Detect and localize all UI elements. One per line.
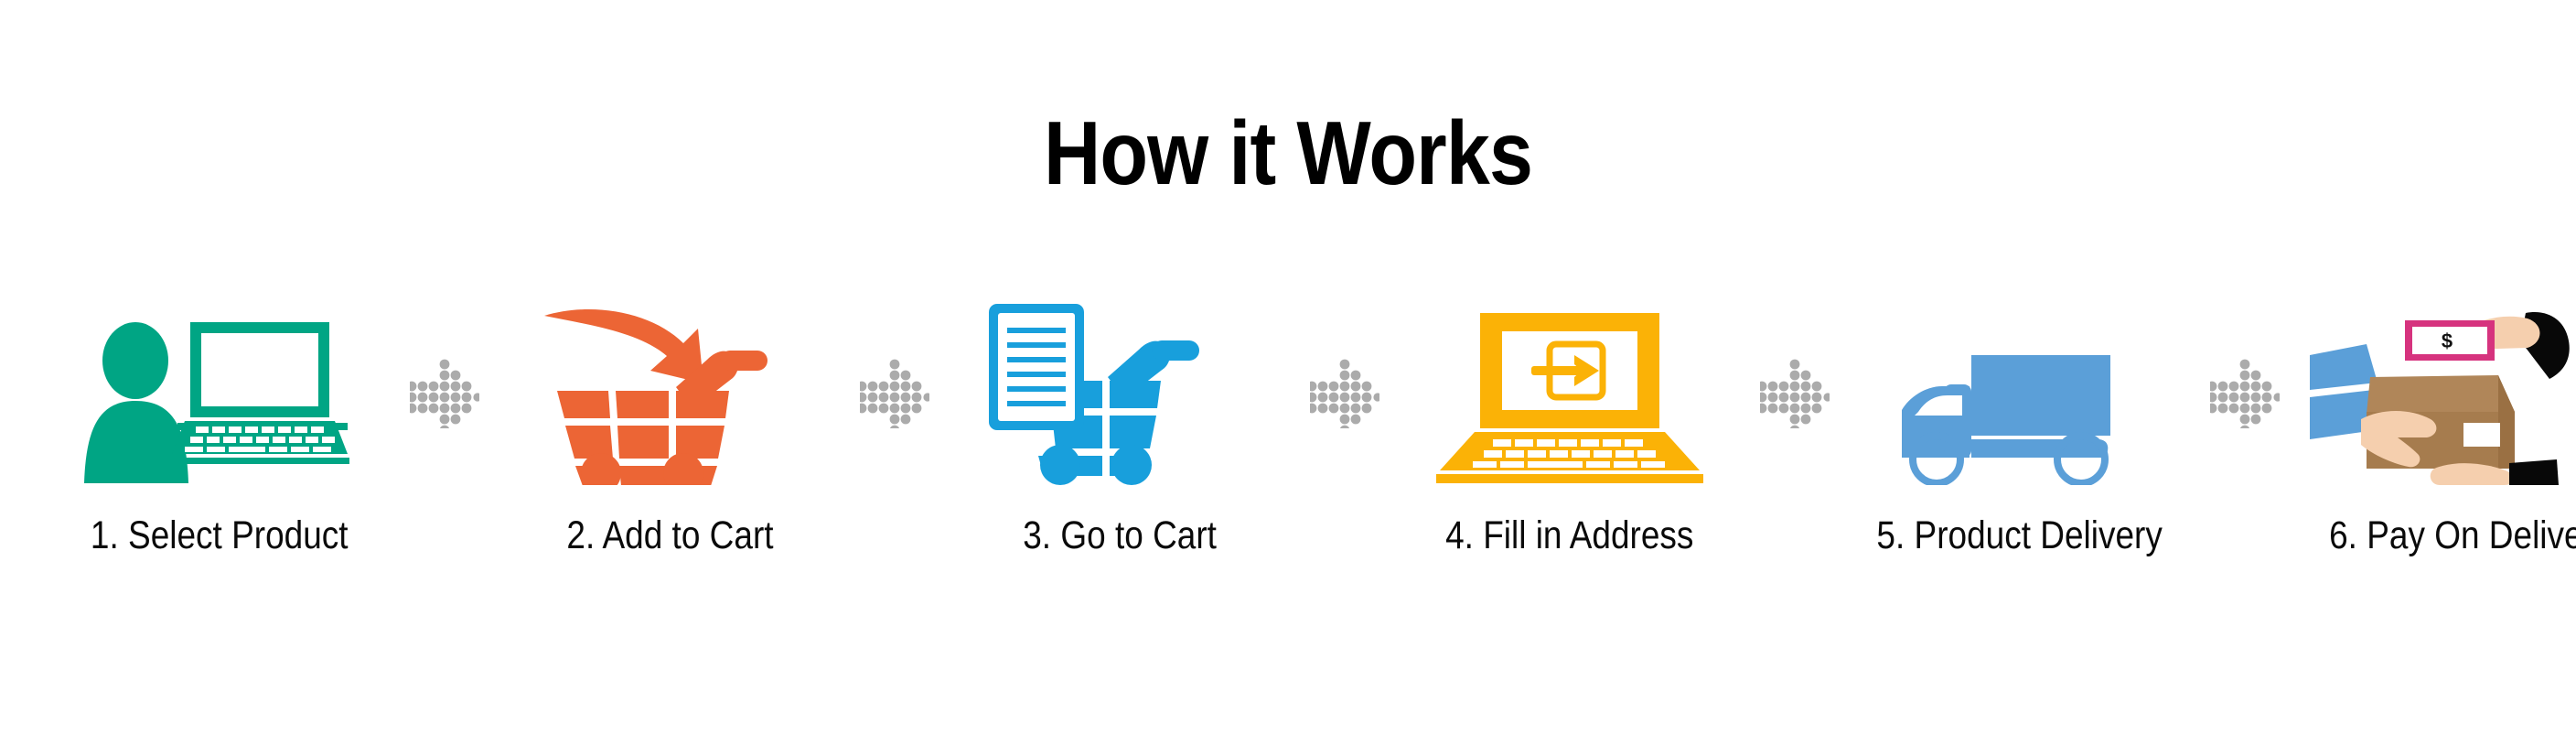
step-3-go-to-cart[interactable]: 3. Go to Cart: [937, 302, 1303, 556]
svg-text:$: $: [2442, 329, 2453, 352]
step-5-product-delivery[interactable]: 5. Product Delivery: [1837, 302, 2203, 556]
dotted-arrow-right-icon: [1303, 302, 1387, 485]
step-4-fill-in-address[interactable]: 4. Fill in Address: [1387, 302, 1753, 556]
dotted-arrow-right-icon: [853, 302, 937, 485]
hands-exchanging-box-and-cash-icon: $: [2287, 302, 2576, 485]
step-1-select-product[interactable]: 1. Select Product: [37, 302, 402, 556]
how-it-works-infographic: How it Works: [0, 0, 2576, 745]
banknote: $: [2405, 320, 2495, 361]
step-2-add-to-cart[interactable]: 2. Add to Cart: [487, 302, 853, 556]
step-label: 5. Product Delivery: [1877, 516, 2163, 556]
step-label: 1. Select Product: [91, 516, 349, 556]
step-label: 2. Add to Cart: [566, 516, 773, 556]
step-label: 3. Go to Cart: [1023, 516, 1217, 556]
shopping-cart-with-arrow-icon: [487, 302, 853, 485]
steps-row: 1. Select Product: [37, 302, 2543, 595]
person-at-laptop-icon: [37, 302, 402, 485]
laptop-login-form-icon: [1387, 302, 1753, 485]
dotted-arrow-right-icon: [2203, 302, 2287, 485]
delivery-truck-icon: [1837, 302, 2203, 485]
document-and-cart-icon: [937, 302, 1303, 485]
page-title: How it Works: [155, 108, 2421, 198]
step-label: 6. Pay On Delivery: [2329, 516, 2576, 556]
step-6-pay-on-delivery[interactable]: $ 6. Pay On Deli: [2287, 302, 2576, 556]
step-label: 4. Fill in Address: [1445, 516, 1693, 556]
dotted-arrow-right-icon: [1753, 302, 1837, 485]
dotted-arrow-right-icon: [402, 302, 487, 485]
